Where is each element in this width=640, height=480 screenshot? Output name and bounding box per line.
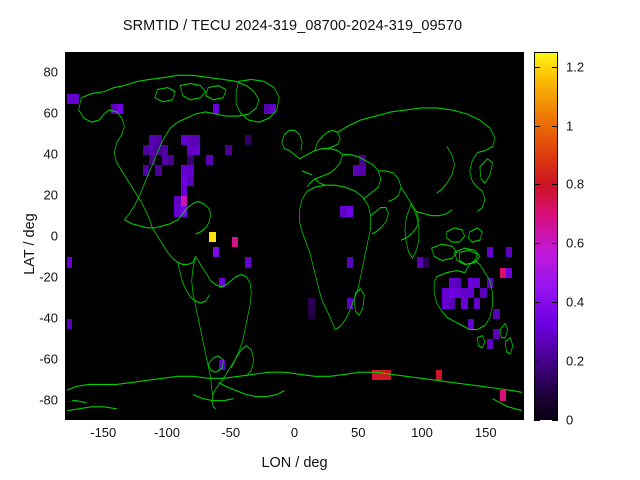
colorbar-tick-mark (534, 243, 540, 244)
y-tick-label: 60 (18, 106, 58, 121)
colorbar-tick-mark (552, 361, 558, 362)
colorbar-tick-label: 1 (566, 118, 573, 133)
x-tick-label: 50 (351, 425, 365, 440)
x-tick-mark (167, 413, 168, 420)
y-tick-label: -20 (18, 269, 58, 284)
x-axis-label: LON / deg (65, 455, 524, 471)
y-tick-label: -80 (18, 392, 58, 407)
y-tick-mark (65, 195, 72, 196)
colorbar-tick-mark (534, 184, 540, 185)
y-tick-label: -60 (18, 351, 58, 366)
chart-title: SRMTID / TECU 2024-319_08700-2024-319_09… (0, 18, 585, 34)
map-plot-area[interactable] (65, 52, 524, 420)
colorbar-tick-mark (534, 302, 540, 303)
y-tick-mark (65, 400, 72, 401)
x-tick-label: -50 (221, 425, 240, 440)
colorbar-tick-label: 0.4 (566, 295, 584, 310)
figure-canvas: SRMTID / TECU 2024-319_08700-2024-319_09… (0, 0, 640, 480)
colorbar-gradient (534, 52, 558, 420)
x-tick-mark (358, 413, 359, 420)
x-tick-label: 150 (475, 425, 497, 440)
colorbar-tick-label: 0.8 (566, 177, 584, 192)
x-tick-mark (231, 413, 232, 420)
colorbar-tick-mark (552, 243, 558, 244)
x-tick-mark (486, 413, 487, 420)
x-tick-label: 0 (291, 425, 298, 440)
plot-border (66, 53, 523, 419)
colorbar-tick-mark (552, 302, 558, 303)
y-tick-mark (65, 277, 72, 278)
x-tick-mark (422, 413, 423, 420)
x-tick-mark (103, 413, 104, 420)
colorbar-tick-mark (552, 420, 558, 421)
y-tick-mark (65, 318, 72, 319)
colorbar-tick-mark (552, 184, 558, 185)
colorbar-tick-mark (552, 67, 558, 68)
colorbar-tick-label: 0.6 (566, 236, 584, 251)
y-tick-mark (65, 72, 72, 73)
y-tick-label: 20 (18, 188, 58, 203)
x-tick-mark (295, 413, 296, 420)
colorbar-tick-label: 0 (566, 413, 573, 428)
y-tick-label: 0 (18, 229, 58, 244)
x-tick-label: -100 (154, 425, 180, 440)
y-tick-mark (65, 359, 72, 360)
colorbar-tick-mark (534, 361, 540, 362)
y-tick-mark (65, 113, 72, 114)
y-tick-label: -40 (18, 310, 58, 325)
y-tick-mark (65, 154, 72, 155)
colorbar-tick-mark (534, 420, 540, 421)
y-tick-mark (65, 236, 72, 237)
colorbar-tick-mark (552, 126, 558, 127)
colorbar-tick-label: 0.2 (566, 354, 584, 369)
colorbar[interactable]: 1.210.80.60.40.20 (534, 52, 558, 420)
colorbar-tick-label: 1.2 (566, 59, 584, 74)
y-tick-label: 40 (18, 147, 58, 162)
x-tick-label: -150 (90, 425, 116, 440)
x-tick-label: 100 (411, 425, 433, 440)
colorbar-tick-mark (534, 126, 540, 127)
y-tick-label: 80 (18, 65, 58, 80)
colorbar-tick-mark (534, 67, 540, 68)
